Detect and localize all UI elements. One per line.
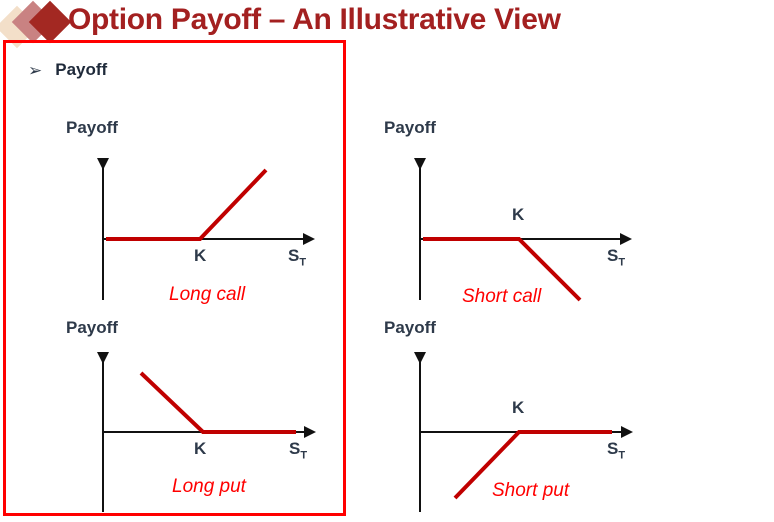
chart-short-put: Payoff K ST Short put xyxy=(0,0,774,522)
chart-short-put-x-axis-subscript: T xyxy=(618,449,625,461)
chart-short-put-x-axis-label: ST xyxy=(607,439,625,461)
chart-short-put-series-label: Short put xyxy=(492,480,569,502)
chart-short-put-x-axis-symbol: S xyxy=(607,439,618,458)
chart-short-put-plot xyxy=(0,0,774,522)
chart-short-put-strike-label: K xyxy=(512,398,524,418)
